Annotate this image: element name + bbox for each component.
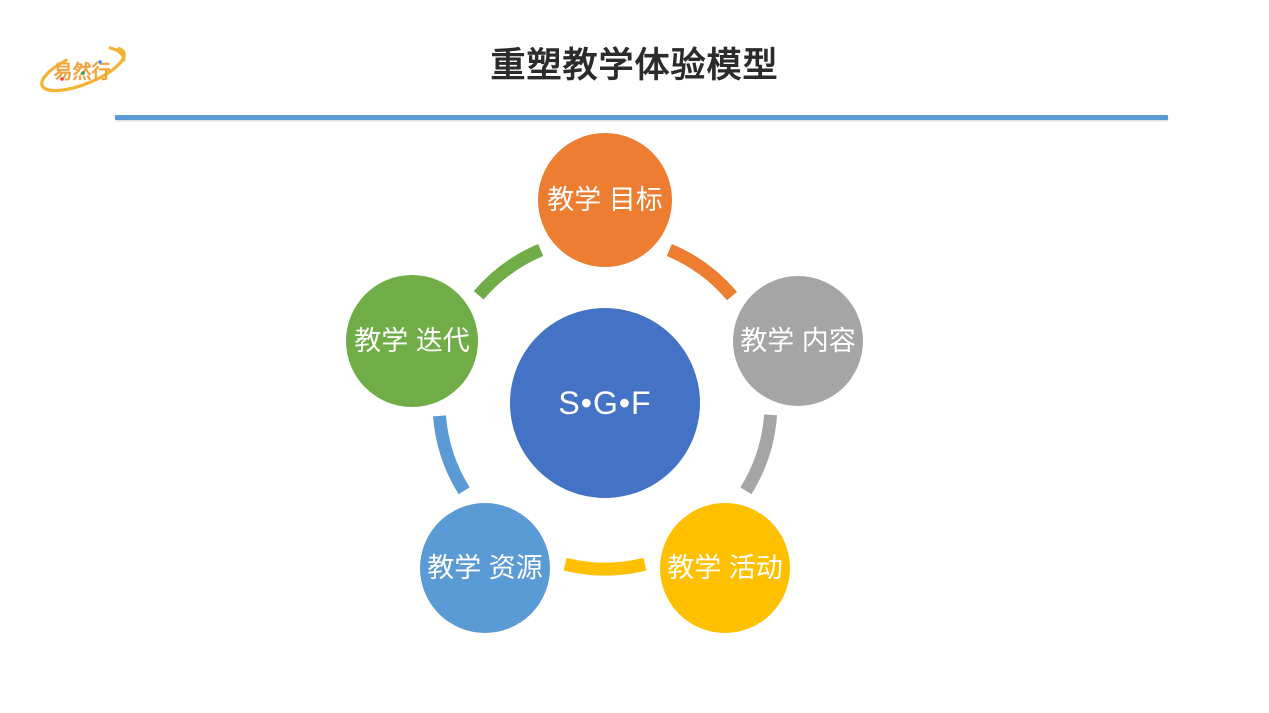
node-label-goal-line2: 目标 (609, 185, 663, 215)
node-label-activity-line2: 活动 (729, 553, 783, 583)
node-label-content-line1: 教学 (740, 326, 794, 356)
node-label-goal: 教学 目标 (547, 183, 663, 217)
node-label-iteration-line2: 迭代 (416, 326, 470, 356)
node-label-iteration: 教学 迭代 (354, 324, 470, 358)
node-label-resource-line2: 资源 (489, 553, 543, 583)
node-label-activity-line1: 教学 (667, 553, 721, 583)
center-node-label: S•G•F (558, 384, 651, 422)
node-label-content: 教学 内容 (740, 324, 856, 358)
arc-content-to-activity (746, 415, 771, 491)
arc-iteration-to-goal (479, 250, 541, 295)
node-label-resource: 教学 资源 (427, 551, 543, 585)
node-label-activity: 教学 活动 (667, 551, 783, 585)
arc-activity-to-resource (565, 564, 645, 569)
cycle-diagram: S•G•F 教学 目标 教学 内容 教学 活动 教学 资源 教学 迭代 (0, 0, 1269, 713)
arc-goal-to-content (669, 250, 732, 296)
node-label-goal-line1: 教学 (547, 185, 601, 215)
node-label-iteration-line1: 教学 (354, 326, 408, 356)
arc-resource-to-iteration (440, 416, 465, 491)
node-label-content-line2: 内容 (802, 326, 856, 356)
node-label-resource-line1: 教学 (427, 553, 481, 583)
cycle-diagram-svg (0, 0, 1269, 713)
slide-canvas: 易然行 重塑教学体验模型 (0, 0, 1269, 713)
